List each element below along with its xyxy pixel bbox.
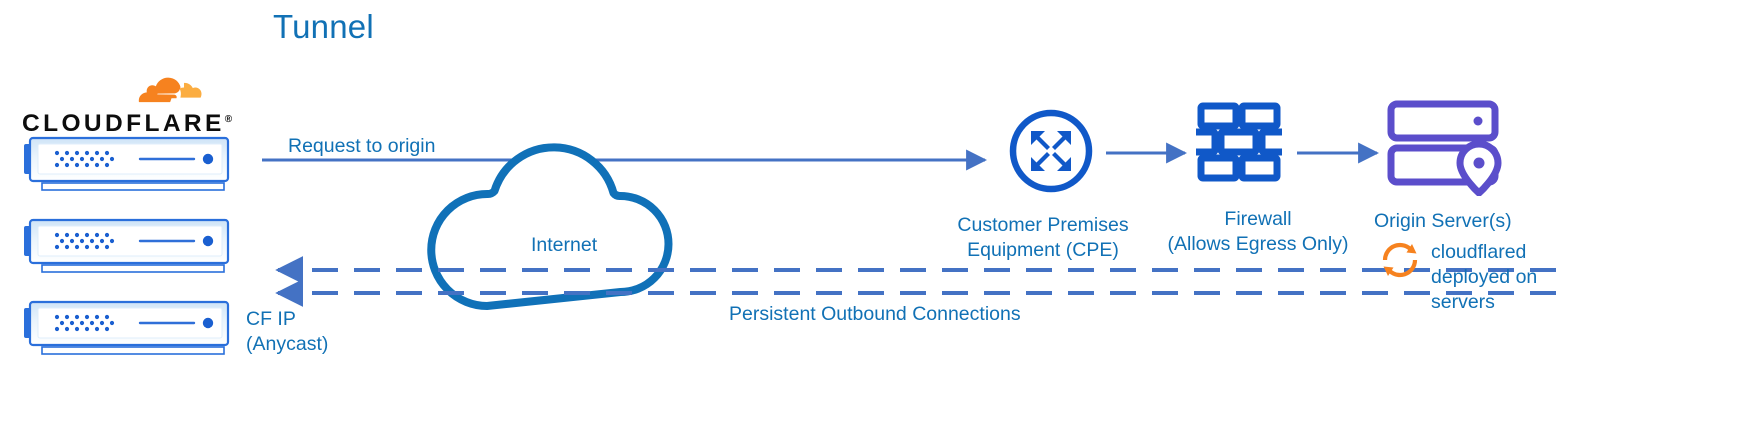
cloudflared-label: cloudflared deployed on servers xyxy=(1431,240,1561,315)
firewall-label: Firewall (Allows Egress Only) xyxy=(1158,207,1358,257)
internet-label: Internet xyxy=(531,233,597,258)
brick-wall-icon xyxy=(1196,100,1282,186)
tunnel-diagram: Tunnel CLOUDFLARE® xyxy=(0,0,1754,422)
server-rack-location-pin-icon xyxy=(1387,100,1511,196)
server-appliance-icon xyxy=(22,216,230,278)
persistent-connections-label: Persistent Outbound Connections xyxy=(729,302,1021,327)
server-appliance-1 xyxy=(22,134,230,196)
server-appliance-2 xyxy=(22,216,230,278)
origin-server-label: Origin Server(s) xyxy=(1374,209,1530,234)
cf-ip-anycast-label: CF IP (Anycast) xyxy=(246,307,328,357)
server-appliance-3 xyxy=(22,298,230,360)
trademark-symbol: ® xyxy=(225,114,232,125)
server-appliance-icon xyxy=(22,298,230,360)
server-appliance-icon xyxy=(22,134,230,196)
four-arrows-circle-icon xyxy=(1007,107,1095,195)
request-to-origin-label: Request to origin xyxy=(288,134,435,159)
cpe-label: Customer Premises Equipment (CPE) xyxy=(947,213,1139,263)
circular-arrows-refresh-icon xyxy=(1378,238,1422,282)
cloudflare-cloud-icon xyxy=(118,74,208,112)
diagram-title: Tunnel xyxy=(273,8,374,46)
cloud-outline-icon xyxy=(431,147,668,306)
cloudflare-logo: CLOUDFLARE® xyxy=(22,74,222,136)
